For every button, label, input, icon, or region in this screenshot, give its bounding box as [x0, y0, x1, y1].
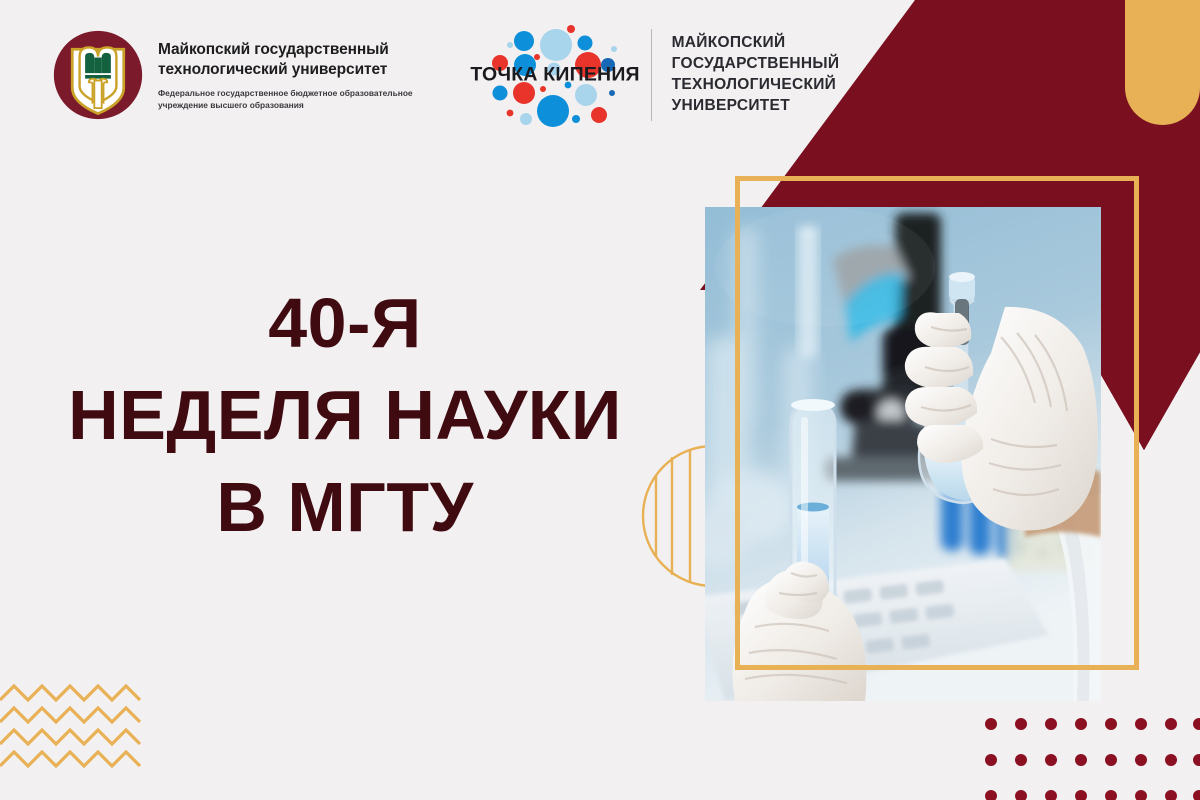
mgtu-text-block: Майкопский государственный технологическ…	[158, 38, 413, 112]
headline: 40-Я НЕДЕЛЯ НАУКИ В МГТУ	[0, 288, 690, 542]
zigzag-decoration	[0, 672, 175, 790]
headline-line-3: В МГТУ	[0, 472, 690, 542]
headline-line-1: 40-Я	[0, 288, 690, 358]
tk-univ-line-2: ТЕХНОЛОГИЧЕСКИЙ	[672, 75, 840, 96]
tk-univ-line-3: УНИВЕРСИТЕТ	[672, 96, 840, 117]
tk-univ-line-1: ГОСУДАРСТВЕННЫЙ	[672, 54, 840, 75]
header: Майкопский государственный технологическ…	[0, 0, 1200, 150]
logo-divider	[651, 29, 652, 121]
dot-grid-decoration	[985, 716, 1200, 800]
poster-canvas: Майкопский государственный технологическ…	[0, 0, 1200, 800]
mgtu-name-line2: технологический университет	[158, 60, 413, 80]
tochka-kipeniya-mark: ТОЧКА КИПЕНИЯ	[468, 19, 643, 131]
mgtu-shield-emblem-icon	[52, 29, 144, 121]
headline-line-2: НЕДЕЛЯ НАУКИ	[0, 380, 690, 450]
mgtu-subtitle: Федеральное государственное бюджетное об…	[158, 87, 413, 113]
mgtu-name: Майкопский государственный технологическ…	[158, 40, 413, 80]
mgtu-logo[interactable]: Майкопский государственный технологическ…	[52, 29, 413, 121]
tk-university-name: МАЙКОПСКИЙ ГОСУДАРСТВЕННЫЙ ТЕХНОЛОГИЧЕСК…	[672, 33, 840, 117]
tochka-kipeniya-logo[interactable]: ТОЧКА КИПЕНИЯ МАЙКОПСКИЙ ГОСУДАРСТВЕННЫЙ…	[468, 19, 840, 131]
mgtu-sub-line2: учреждение высшего образования	[158, 99, 413, 112]
photo-gold-frame	[735, 176, 1139, 670]
tk-univ-line-0: МАЙКОПСКИЙ	[672, 33, 840, 54]
mgtu-name-line1: Майкопский государственный	[158, 40, 413, 60]
tochka-kipeniya-wordmark: ТОЧКА КИПЕНИЯ	[468, 64, 643, 87]
mgtu-sub-line1: Федеральное государственное бюджетное об…	[158, 87, 413, 100]
